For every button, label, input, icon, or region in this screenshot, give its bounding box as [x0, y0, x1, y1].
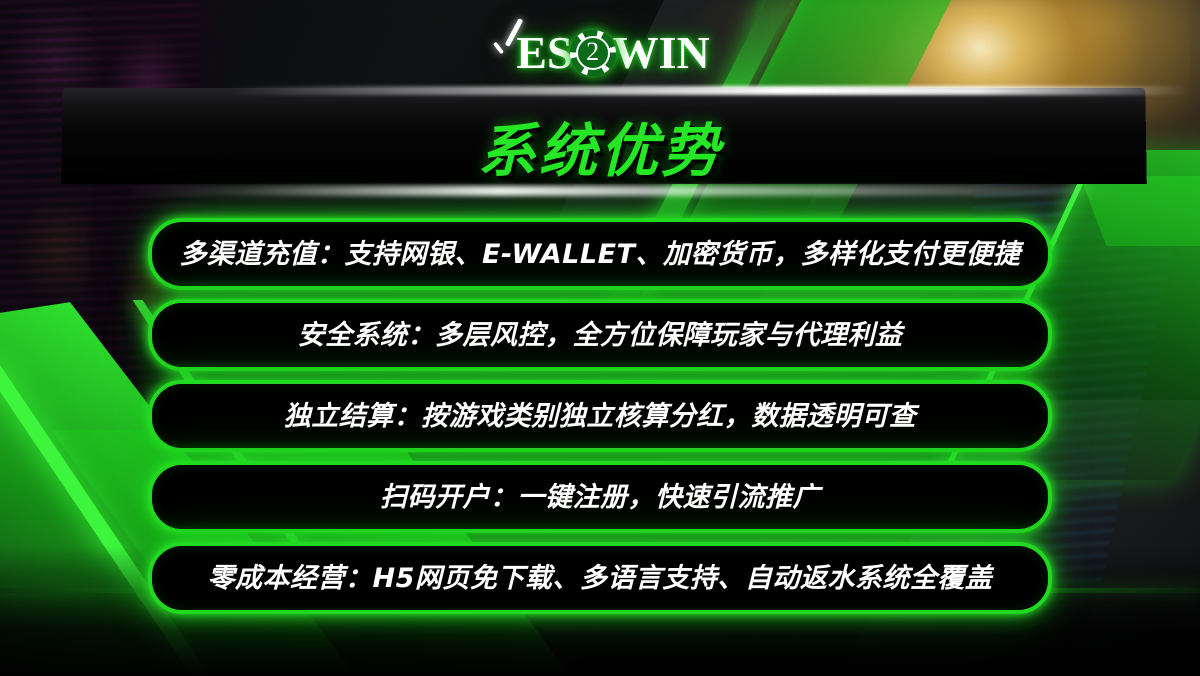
brand-logo: ES 2 WIN: [0, 26, 1200, 79]
feature-pill-label: 多渠道充值：支持网银、E-WALLET、加密货币，多样化支付更便捷: [180, 241, 1021, 268]
banner-top-highlight: [230, 86, 1190, 95]
feature-pill: 多渠道充值：支持网银、E-WALLET、加密货币，多样化支付更便捷: [148, 218, 1052, 290]
feature-pill-label: 独立结算：按游戏类别独立核算分红，数据透明可查: [284, 403, 917, 430]
poker-chip-number: 2: [586, 39, 599, 67]
logo-word-right: WIN: [613, 26, 710, 79]
feature-pill-label: 扫码开户：一键注册，快速引流推广: [380, 484, 820, 511]
promo-banner-stage: ES 2 WIN 系统优势 多渠道充值：支持网银、E-WALLET、加密货币，多…: [0, 0, 1200, 676]
poker-chip-icon: 2: [570, 30, 616, 76]
feature-pill-label: 零成本经营：H5网页免下载、多语言支持、自动返水系统全覆盖: [208, 565, 993, 592]
feature-pill: 零成本经营：H5网页免下载、多语言支持、自动返水系统全覆盖: [148, 542, 1052, 614]
page-title: 系统优势: [0, 104, 1200, 188]
feature-pill: 安全系统：多层风控，全方位保障玩家与代理利益: [148, 299, 1052, 371]
feature-pill: 独立结算：按游戏类别独立核算分红，数据透明可查: [148, 380, 1052, 452]
check-icon: [490, 30, 524, 76]
feature-pill: 扫码开户：一键注册，快速引流推广: [148, 461, 1052, 533]
feature-pill-label: 安全系统：多层风控，全方位保障玩家与代理利益: [298, 322, 903, 349]
logo-word-left: ES: [516, 26, 572, 79]
feature-list: 多渠道充值：支持网银、E-WALLET、加密货币，多样化支付更便捷 安全系统：多…: [148, 218, 1052, 614]
